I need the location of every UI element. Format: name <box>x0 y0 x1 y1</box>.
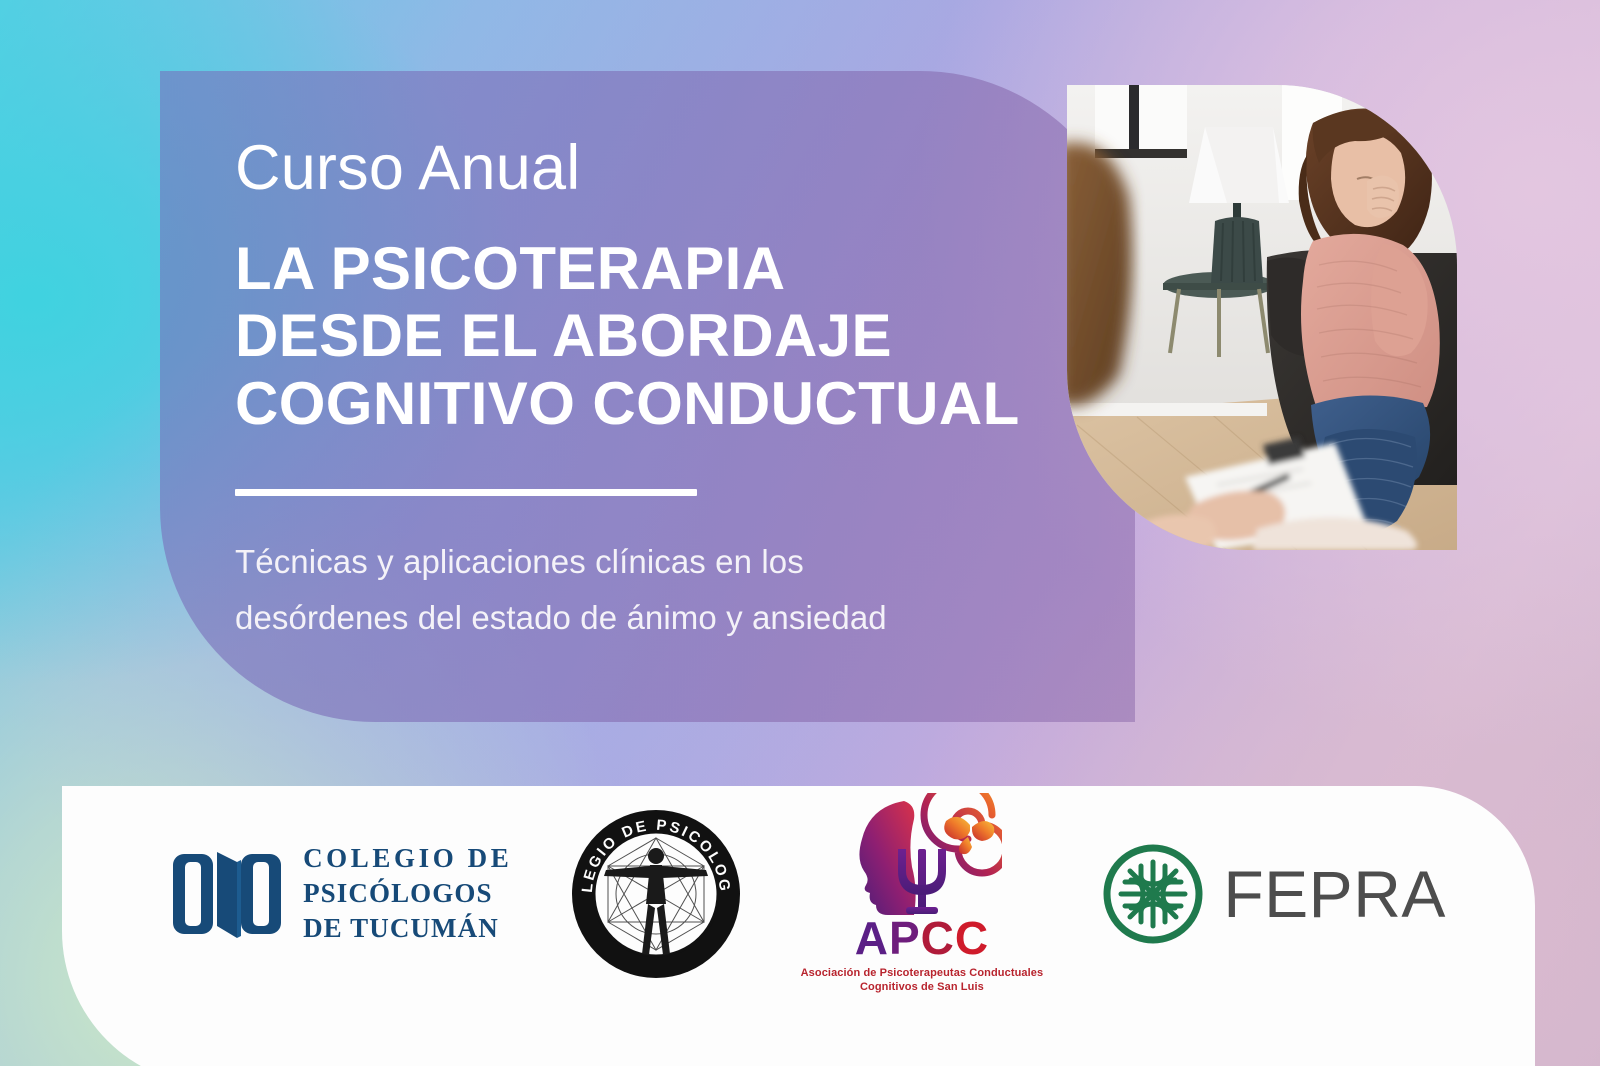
open-book-mark-icon <box>171 848 283 940</box>
course-title-line-2: DESDE EL ABORDAJE <box>235 302 1065 369</box>
vitruvian-seal-icon: COLEGIO DE PSICOLOGOS SAN LUIS <box>570 808 742 980</box>
course-title-line-3: COGNITIVO CONDUCTUAL <box>235 370 1065 437</box>
logo-apcc: APCC Asociación de Psicoterapeutas Condu… <box>801 793 1044 994</box>
course-subtitle-line-2: desórdenes del estado de ánimo y ansieda… <box>235 590 1065 647</box>
logo-fepra: FEPRA <box>1101 842 1446 946</box>
head-psi-butterfly-mark-icon <box>842 793 1002 921</box>
course-title-line-1: LA PSICOTERAPIA <box>235 235 1065 302</box>
logo-apcc-tagline-line-2: Cognitivos de San Luis <box>801 980 1044 994</box>
logo-colegio-psicologos-san-luis: COLEGIO DE PSICOLOGOS SAN LUIS <box>570 808 742 980</box>
logo-tucuman-line-3: DE TUCUMÁN <box>303 911 512 946</box>
headline-block: Curso Anual LA PSICOTERAPIA DESDE EL ABO… <box>235 135 1065 647</box>
logo-tucuman-line-1: COLEGIO DE <box>303 841 512 876</box>
therapy-session-illustration <box>1067 85 1457 550</box>
sponsor-logo-row: COLEGIO DE PSICÓLOGOS DE TUCUMÁN <box>62 786 1535 1001</box>
course-subtitle-line-1: Técnicas y aplicaciones clínicas en los <box>235 534 1065 591</box>
logo-apcc-acronym: APCC <box>855 915 989 961</box>
psi-tree-circle-mark-icon <box>1101 842 1205 946</box>
logo-colegio-psicologos-tucuman: COLEGIO DE PSICÓLOGOS DE TUCUMÁN <box>171 841 512 946</box>
course-flyer: Curso Anual LA PSICOTERAPIA DESDE EL ABO… <box>0 0 1600 1066</box>
therapy-session-photo <box>1067 85 1457 550</box>
sponsor-footer-bar: COLEGIO DE PSICÓLOGOS DE TUCUMÁN <box>62 786 1535 1066</box>
course-subtitle: Técnicas y aplicaciones clínicas en los … <box>235 534 1065 648</box>
course-title: LA PSICOTERAPIA DESDE EL ABORDAJE COGNIT… <box>235 235 1065 437</box>
course-eyebrow: Curso Anual <box>235 135 1065 201</box>
logo-tucuman-line-2: PSICÓLOGOS <box>303 876 512 911</box>
title-divider-rule <box>235 489 697 496</box>
logo-apcc-tagline: Asociación de Psicoterapeutas Conductual… <box>801 966 1044 994</box>
logo-fepra-wordmark: FEPRA <box>1223 861 1446 927</box>
logo-tucuman-wordmark: COLEGIO DE PSICÓLOGOS DE TUCUMÁN <box>303 841 512 946</box>
logo-apcc-tagline-line-1: Asociación de Psicoterapeutas Conductual… <box>801 966 1044 980</box>
